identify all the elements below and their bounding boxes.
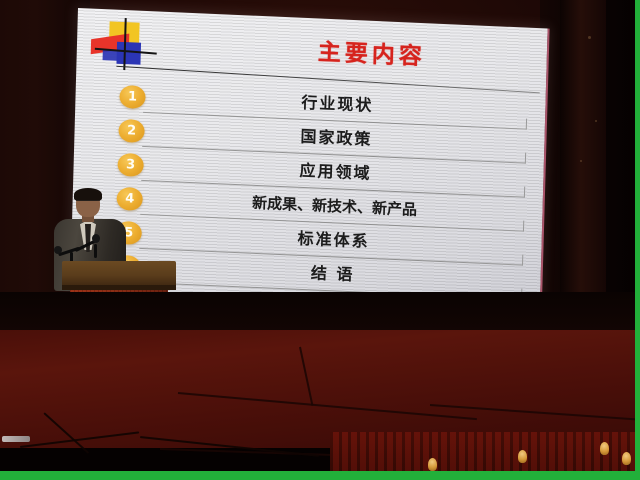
microphone-head-icon	[54, 246, 62, 254]
stage-lamp-icon	[518, 450, 527, 463]
stage-lamp-icon	[428, 458, 437, 471]
floor-light-fixture	[2, 436, 30, 442]
agenda-row-tick	[526, 119, 527, 130]
glasses-icon	[76, 200, 100, 205]
stage-lamp-icon	[600, 442, 609, 455]
microphone-head-icon	[92, 234, 100, 243]
hall-highlight-speck	[580, 160, 582, 162]
agenda-number-badge: 2	[118, 119, 145, 143]
hall-highlight-speck	[588, 36, 591, 39]
green-frame-bottom	[0, 471, 640, 480]
agenda-row-tick	[524, 187, 525, 198]
agenda-row-tick	[525, 153, 526, 164]
agenda-row-tick	[523, 221, 524, 232]
agenda-number-badge: 1	[119, 85, 146, 109]
conference-photo: 主要内容 1 行业现状 2 国家政策 3 应用领域	[0, 0, 640, 480]
stage-curtain	[330, 432, 640, 476]
stage-floor	[0, 330, 640, 448]
microphone-stem	[94, 244, 97, 258]
podium-desktop	[62, 261, 176, 287]
hall-highlight-speck	[595, 120, 597, 122]
agenda-number-badge: 3	[117, 153, 144, 177]
hall-pillar	[560, 0, 606, 300]
stage-lamp-icon	[622, 452, 631, 465]
agenda-row-tick	[522, 255, 523, 266]
green-frame-right	[635, 0, 640, 480]
